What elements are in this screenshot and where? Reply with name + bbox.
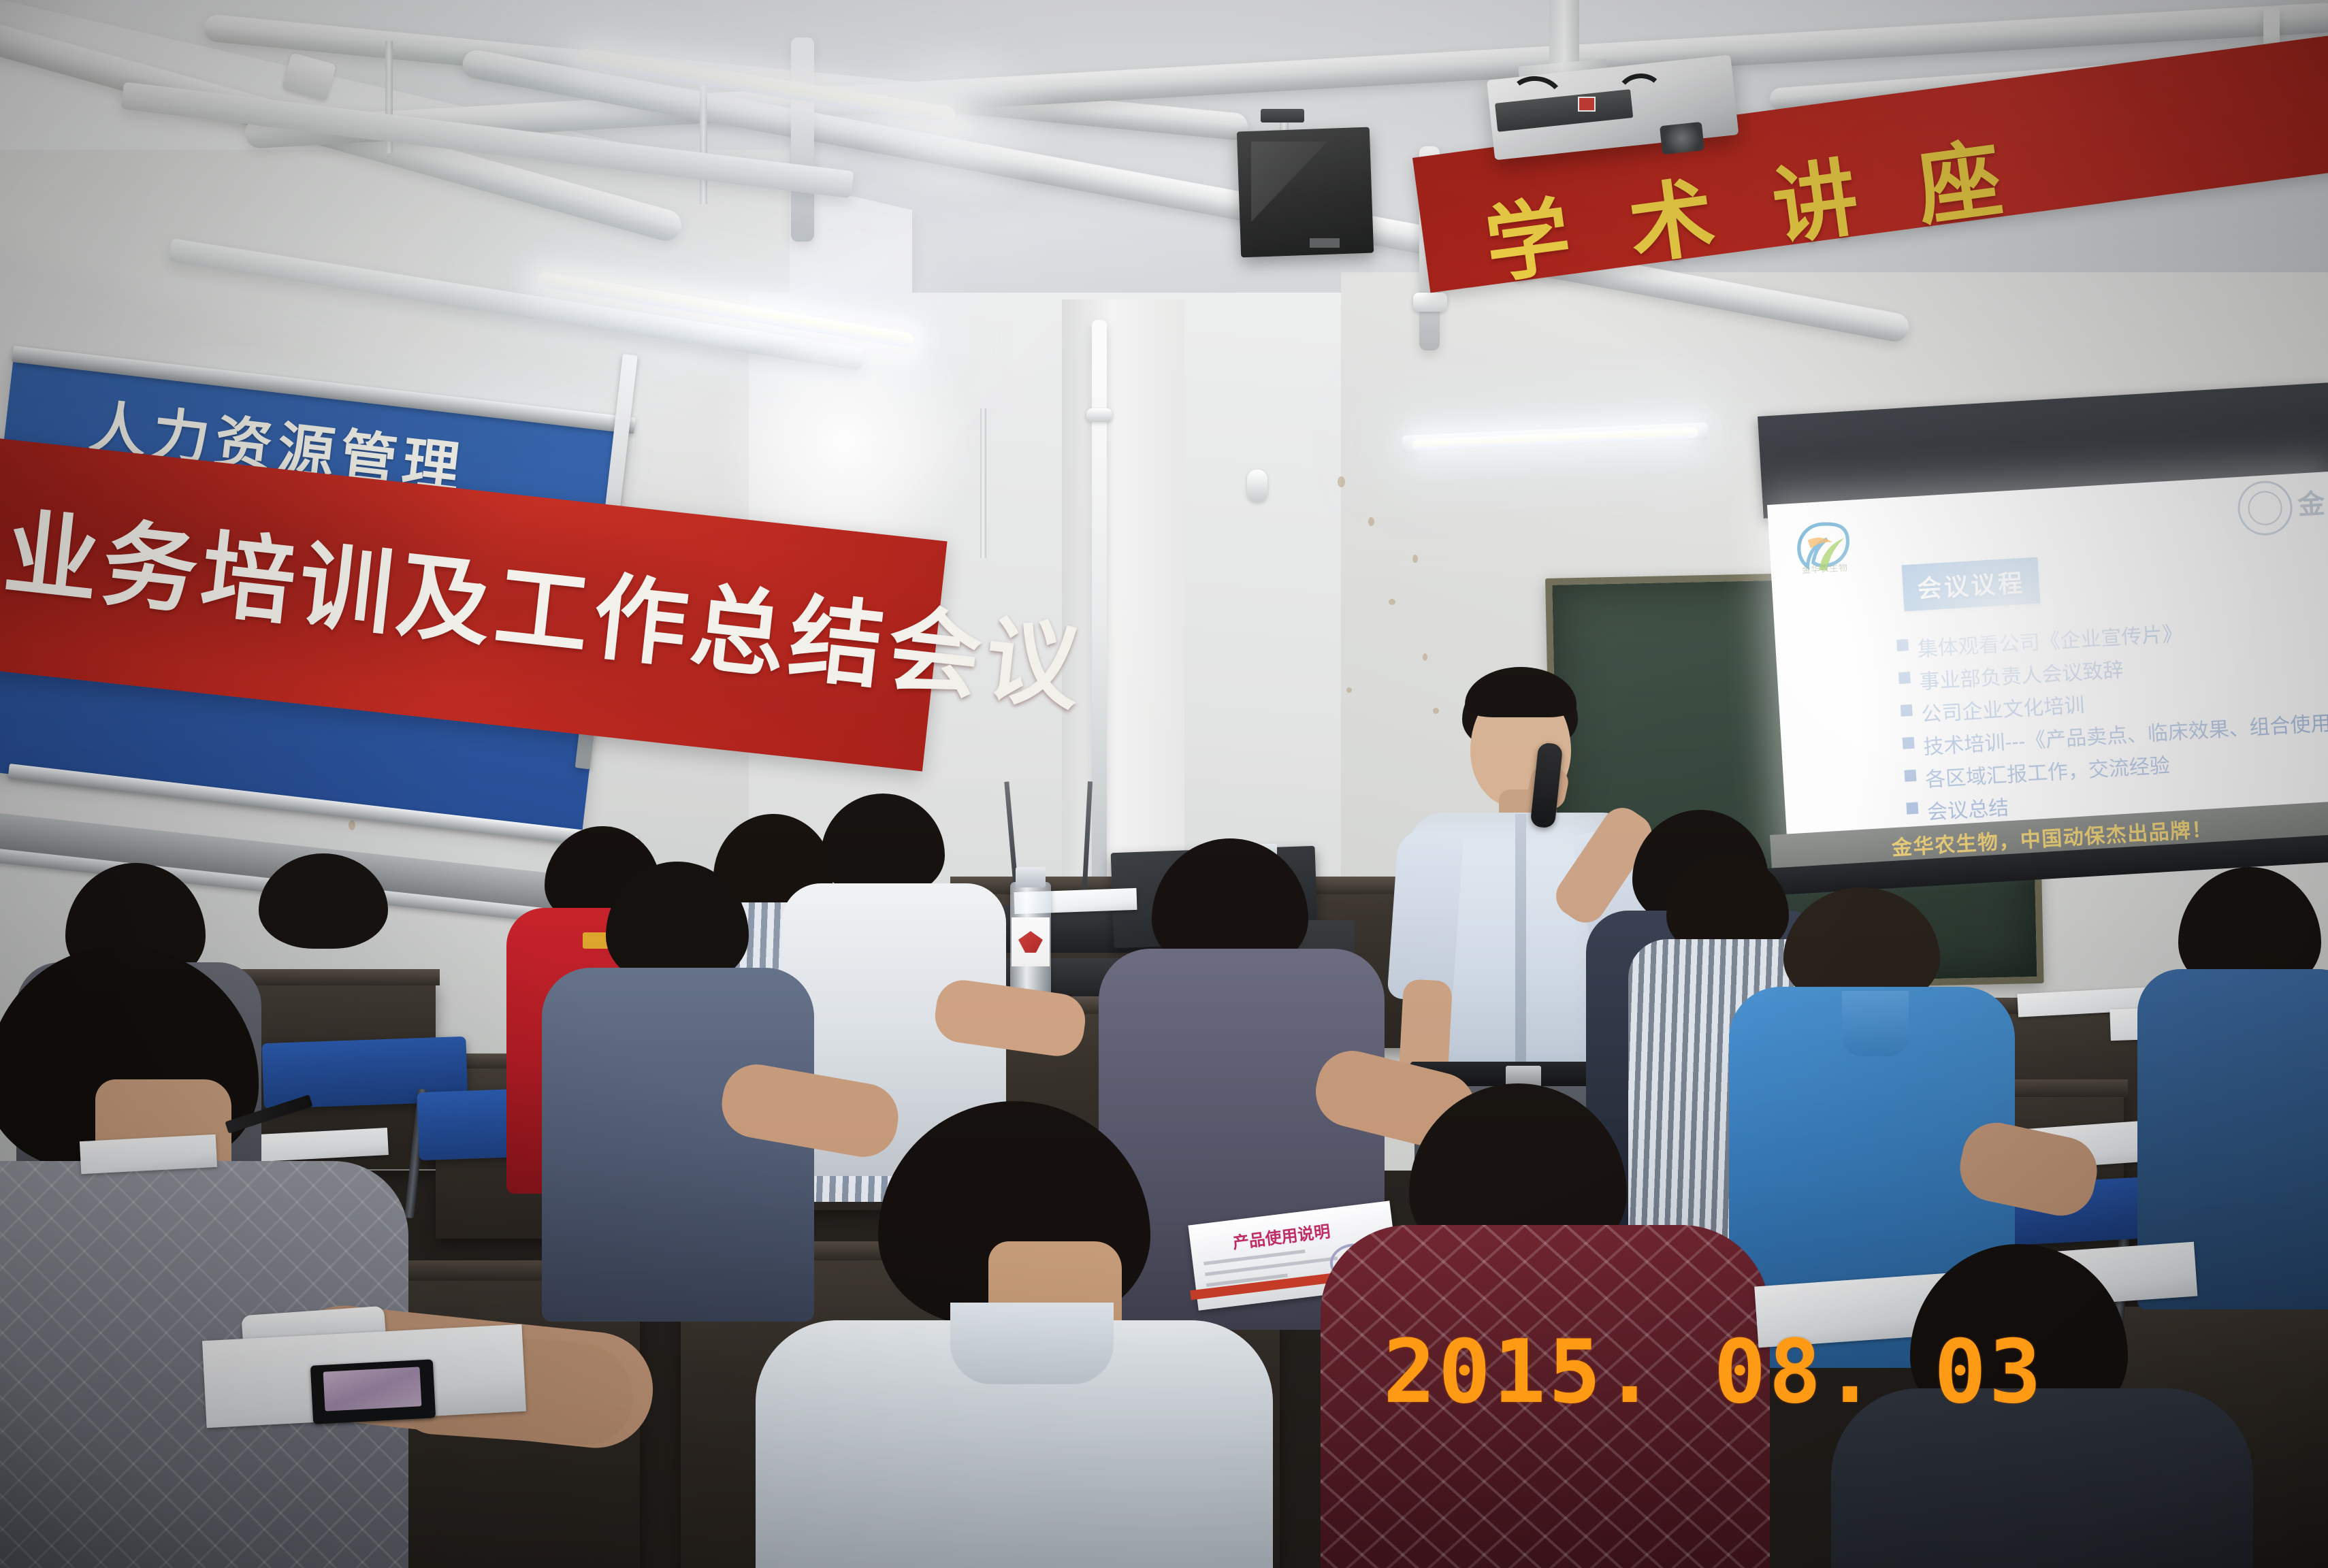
bullet-square-icon	[1904, 770, 1916, 782]
pipe-collar	[1413, 293, 1447, 312]
bullet-square-icon	[1901, 704, 1913, 717]
speaker-mount-bracket	[1261, 109, 1304, 122]
university-seal-icon	[2236, 479, 2294, 537]
wall-speck	[1389, 599, 1395, 605]
smartphone-screen	[323, 1367, 422, 1411]
wall-speck	[1423, 653, 1427, 661]
pipe-bracket	[1086, 408, 1112, 422]
attendee-blue2-collar	[1842, 991, 1909, 1056]
company-logo-icon: 金华农生物	[1792, 518, 1854, 580]
projector-lens	[1660, 122, 1704, 154]
wall-speck	[1368, 517, 1374, 526]
bullet-square-icon	[1896, 639, 1909, 651]
projector-ceiling-mount	[1549, 0, 1579, 68]
slide-bullet-1: 集体观看公司《企业宣传片》	[1896, 617, 2184, 664]
slide-bullet-text: 会议总结	[1926, 791, 2009, 826]
projection-screen: 金华农生物 金 会议议程 集体观看公司《企业宣传片》 事业部负责人会议致辞 公司…	[1767, 472, 2328, 850]
pipe-bracket	[1247, 470, 1267, 502]
presenter-left-arm	[1387, 828, 1464, 1002]
wall-speck	[1412, 555, 1418, 563]
pipe-hanger-rod	[700, 68, 707, 204]
camera-date-stamp: 2015. 08. 03	[1383, 1322, 2044, 1423]
wall-speck	[1433, 708, 1439, 714]
classroom-photo: 学 术 讲 座 人力资源管理 业务培训及工作总结会议 金华农生物	[0, 0, 2328, 1568]
slide-title-box: 会议议程	[1902, 557, 2041, 612]
slide-bullet-text: 集体观看公司《企业宣传片》	[1916, 617, 2183, 662]
bullet-square-icon	[1898, 672, 1911, 684]
attendee-blue1-torso	[542, 968, 814, 1322]
ceiling-pipe-drop	[791, 37, 814, 242]
projector-indicator-light	[1578, 97, 1596, 112]
bullet-square-icon	[1906, 802, 1918, 815]
bullet-square-icon	[1903, 737, 1915, 749]
slide-title: 会议议程	[1916, 563, 2026, 605]
presenter-shirt-placket	[1515, 814, 1526, 1073]
pipe-hanger-rod	[980, 408, 986, 558]
seal-side-text: 金	[2296, 481, 2325, 522]
handout-heading: 产品使用说明	[1231, 1218, 1331, 1253]
attendee-white2-collar	[950, 1303, 1114, 1384]
wall-speck	[1346, 687, 1352, 693]
speaker-badge	[1310, 238, 1340, 248]
wall-speck	[1338, 476, 1345, 487]
wall-speck	[349, 820, 355, 830]
bottle-label	[1012, 917, 1050, 966]
bottle-cap	[1016, 867, 1046, 887]
